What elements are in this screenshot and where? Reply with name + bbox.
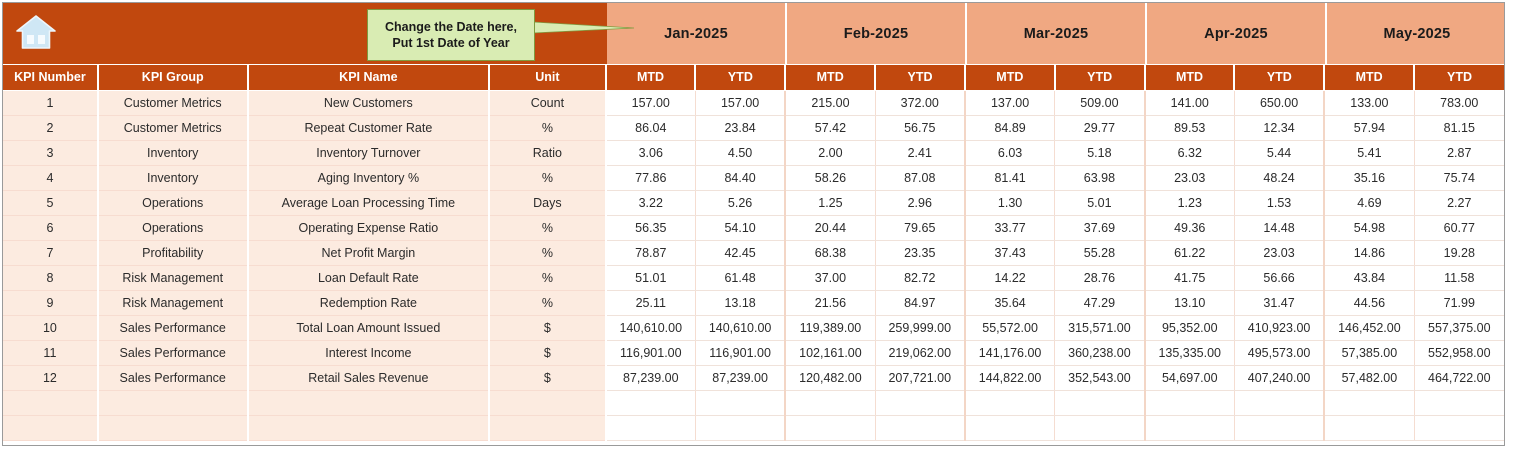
cell-apr-2025-mtd[interactable]: 6.32 (1145, 140, 1235, 165)
cell-may-2025-ytd[interactable]: 60.77 (1414, 215, 1504, 240)
cell-apr-2025-ytd[interactable] (1234, 390, 1324, 415)
cell-mar-2025-ytd[interactable]: 28.76 (1055, 265, 1145, 290)
kpi-table-body: 1Customer MetricsNew CustomersCount157.0… (3, 90, 1504, 440)
cell-kpi-name[interactable]: New Customers (248, 90, 490, 115)
cell-feb-2025-mtd[interactable]: 58.26 (785, 165, 875, 190)
cell-kpi-group[interactable]: Inventory (98, 165, 248, 190)
cell-feb-2025-ytd[interactable]: 207,721.00 (875, 365, 965, 390)
cell-may-2025-mtd[interactable]: 14.86 (1324, 240, 1414, 265)
table-header-row: KPI Number KPI Group KPI Name Unit MTD Y… (3, 65, 1504, 90)
cell-mar-2025-ytd[interactable] (1055, 390, 1145, 415)
cell-apr-2025-ytd[interactable]: 5.44 (1234, 140, 1324, 165)
cell-apr-2025-ytd[interactable] (1234, 415, 1324, 440)
cell-kpi-name[interactable]: Operating Expense Ratio (248, 215, 490, 240)
col-header-mar-ytd[interactable]: YTD (1055, 65, 1145, 90)
cell-apr-2025-ytd[interactable]: 31.47 (1234, 290, 1324, 315)
cell-apr-2025-mtd[interactable] (1145, 415, 1235, 440)
cell-feb-2025-mtd[interactable]: 37.00 (785, 265, 875, 290)
cell-mar-2025-mtd[interactable]: 141,176.00 (965, 340, 1055, 365)
cell-apr-2025-ytd[interactable]: 48.24 (1234, 165, 1324, 190)
cell-feb-2025-ytd[interactable]: 372.00 (875, 90, 965, 115)
cell-mar-2025-mtd[interactable] (965, 415, 1055, 440)
cell-may-2025-mtd[interactable] (1324, 415, 1414, 440)
cell-kpi-name[interactable]: Average Loan Processing Time (248, 190, 490, 215)
cell-jan-2025-ytd[interactable]: 87,239.00 (695, 365, 785, 390)
cell-feb-2025-ytd[interactable]: 84.97 (875, 290, 965, 315)
cell-may-2025-mtd[interactable]: 133.00 (1324, 90, 1414, 115)
cell-unit[interactable]: $ (489, 340, 605, 365)
table-row[interactable]: 3InventoryInventory TurnoverRatio3.064.5… (3, 140, 1504, 165)
cell-kpi-name[interactable] (248, 390, 490, 415)
cell-mar-2025-ytd[interactable]: 55.28 (1055, 240, 1145, 265)
cell-may-2025-mtd[interactable]: 54.98 (1324, 215, 1414, 240)
cell-apr-2025-mtd[interactable]: 89.53 (1145, 115, 1235, 140)
cell-feb-2025-mtd[interactable] (785, 415, 875, 440)
cell-kpi-group[interactable]: Risk Management (98, 265, 248, 290)
col-header-feb-ytd[interactable]: YTD (875, 65, 965, 90)
table-row[interactable]: 10Sales PerformanceTotal Loan Amount Iss… (3, 315, 1504, 340)
cell-kpi-number[interactable]: 8 (3, 265, 98, 290)
cell-kpi-number[interactable]: 12 (3, 365, 98, 390)
cell-kpi-group[interactable]: Operations (98, 190, 248, 215)
col-header-jan-ytd[interactable]: YTD (695, 65, 785, 90)
cell-kpi-number[interactable]: 6 (3, 215, 98, 240)
cell-mar-2025-mtd[interactable]: 14.22 (965, 265, 1055, 290)
cell-feb-2025-ytd[interactable]: 87.08 (875, 165, 965, 190)
cell-kpi-group[interactable]: Sales Performance (98, 315, 248, 340)
cell-apr-2025-mtd[interactable]: 135,335.00 (1145, 340, 1235, 365)
cell-jan-2025-mtd[interactable]: 140,610.00 (606, 315, 696, 340)
cell-jan-2025-mtd[interactable]: 51.01 (606, 265, 696, 290)
cell-jan-2025-mtd[interactable]: 78.87 (606, 240, 696, 265)
cell-jan-2025-ytd[interactable]: 84.40 (695, 165, 785, 190)
cell-mar-2025-mtd[interactable] (965, 390, 1055, 415)
col-header-may-mtd[interactable]: MTD (1324, 65, 1414, 90)
cell-kpi-name[interactable]: Inventory Turnover (248, 140, 490, 165)
cell-unit[interactable]: Days (489, 190, 605, 215)
cell-unit[interactable]: $ (489, 315, 605, 340)
cell-mar-2025-ytd[interactable]: 37.69 (1055, 215, 1145, 240)
cell-jan-2025-ytd[interactable]: 157.00 (695, 90, 785, 115)
table-row[interactable]: 8Risk ManagementLoan Default Rate%51.016… (3, 265, 1504, 290)
cell-unit[interactable]: % (489, 265, 605, 290)
col-header-apr-mtd[interactable]: MTD (1145, 65, 1235, 90)
cell-mar-2025-ytd[interactable]: 47.29 (1055, 290, 1145, 315)
cell-may-2025-ytd[interactable]: 71.99 (1414, 290, 1504, 315)
cell-kpi-group[interactable]: Sales Performance (98, 365, 248, 390)
table-row[interactable]: 9Risk ManagementRedemption Rate%25.1113.… (3, 290, 1504, 315)
table-row[interactable]: 5OperationsAverage Loan Processing TimeD… (3, 190, 1504, 215)
cell-feb-2025-mtd[interactable]: 120,482.00 (785, 365, 875, 390)
kpi-sheet: Change the Date here, Put 1st Date of Ye… (2, 2, 1505, 446)
cell-jan-2025-ytd[interactable]: 42.45 (695, 240, 785, 265)
cell-feb-2025-mtd[interactable]: 20.44 (785, 215, 875, 240)
cell-mar-2025-mtd[interactable]: 6.03 (965, 140, 1055, 165)
cell-jan-2025-ytd[interactable] (695, 390, 785, 415)
cell-kpi-name[interactable]: Total Loan Amount Issued (248, 315, 490, 340)
table-row[interactable]: 12Sales PerformanceRetail Sales Revenue$… (3, 365, 1504, 390)
cell-may-2025-ytd[interactable]: 557,375.00 (1414, 315, 1504, 340)
cell-mar-2025-ytd[interactable]: 5.01 (1055, 190, 1145, 215)
col-header-mar-mtd[interactable]: MTD (965, 65, 1055, 90)
table-row[interactable]: 11Sales PerformanceInterest Income$116,9… (3, 340, 1504, 365)
cell-unit[interactable]: % (489, 290, 605, 315)
cell-jan-2025-ytd[interactable]: 5.26 (695, 190, 785, 215)
cell-jan-2025-ytd[interactable]: 116,901.00 (695, 340, 785, 365)
cell-kpi-number[interactable]: 4 (3, 165, 98, 190)
col-header-apr-ytd[interactable]: YTD (1234, 65, 1324, 90)
cell-kpi-name[interactable] (248, 415, 490, 440)
cell-feb-2025-mtd[interactable] (785, 390, 875, 415)
cell-kpi-name[interactable]: Net Profit Margin (248, 240, 490, 265)
cell-apr-2025-ytd[interactable]: 407,240.00 (1234, 365, 1324, 390)
cell-apr-2025-ytd[interactable]: 410,923.00 (1234, 315, 1324, 340)
cell-unit[interactable]: % (489, 165, 605, 190)
cell-apr-2025-ytd[interactable]: 56.66 (1234, 265, 1324, 290)
col-header-feb-mtd[interactable]: MTD (785, 65, 875, 90)
cell-may-2025-ytd[interactable]: 11.58 (1414, 265, 1504, 290)
col-header-kpi-number[interactable]: KPI Number (3, 65, 98, 90)
cell-kpi-number[interactable]: 11 (3, 340, 98, 365)
cell-kpi-name[interactable]: Loan Default Rate (248, 265, 490, 290)
cell-jan-2025-mtd[interactable]: 3.06 (606, 140, 696, 165)
cell-feb-2025-ytd[interactable]: 2.96 (875, 190, 965, 215)
cell-apr-2025-mtd[interactable]: 13.10 (1145, 290, 1235, 315)
cell-apr-2025-mtd[interactable]: 54,697.00 (1145, 365, 1235, 390)
cell-kpi-group[interactable]: Profitability (98, 240, 248, 265)
cell-may-2025-ytd[interactable]: 464,722.00 (1414, 365, 1504, 390)
cell-feb-2025-mtd[interactable]: 2.00 (785, 140, 875, 165)
cell-mar-2025-mtd[interactable]: 81.41 (965, 165, 1055, 190)
cell-feb-2025-ytd[interactable]: 82.72 (875, 265, 965, 290)
cell-may-2025-ytd[interactable]: 81.15 (1414, 115, 1504, 140)
cell-jan-2025-mtd[interactable]: 87,239.00 (606, 365, 696, 390)
callout-line-2: Put 1st Date of Year (392, 35, 509, 51)
cell-feb-2025-ytd[interactable]: 2.41 (875, 140, 965, 165)
cell-jan-2025-mtd[interactable]: 56.35 (606, 215, 696, 240)
cell-jan-2025-mtd[interactable]: 25.11 (606, 290, 696, 315)
cell-apr-2025-mtd[interactable]: 95,352.00 (1145, 315, 1235, 340)
cell-apr-2025-mtd[interactable]: 49.36 (1145, 215, 1235, 240)
cell-kpi-number[interactable]: 3 (3, 140, 98, 165)
cell-apr-2025-mtd[interactable]: 23.03 (1145, 165, 1235, 190)
cell-mar-2025-ytd[interactable]: 315,571.00 (1055, 315, 1145, 340)
cell-jan-2025-ytd[interactable]: 23.84 (695, 115, 785, 140)
cell-unit[interactable]: Count (489, 90, 605, 115)
cell-kpi-group[interactable]: Customer Metrics (98, 90, 248, 115)
cell-kpi-group[interactable]: Operations (98, 215, 248, 240)
col-header-unit[interactable]: Unit (489, 65, 605, 90)
cell-feb-2025-ytd[interactable]: 56.75 (875, 115, 965, 140)
cell-kpi-number[interactable] (3, 415, 98, 440)
cell-may-2025-mtd[interactable]: 146,452.00 (1324, 315, 1414, 340)
cell-kpi-name[interactable]: Redemption Rate (248, 290, 490, 315)
cell-jan-2025-mtd[interactable] (606, 415, 696, 440)
cell-jan-2025-ytd[interactable]: 61.48 (695, 265, 785, 290)
cell-feb-2025-ytd[interactable] (875, 415, 965, 440)
cell-may-2025-mtd[interactable]: 57.94 (1324, 115, 1414, 140)
cell-jan-2025-ytd[interactable]: 4.50 (695, 140, 785, 165)
cell-apr-2025-ytd[interactable]: 495,573.00 (1234, 340, 1324, 365)
cell-feb-2025-mtd[interactable]: 57.42 (785, 115, 875, 140)
month-header-feb[interactable]: Feb-2025 (787, 3, 967, 64)
cell-mar-2025-ytd[interactable]: 5.18 (1055, 140, 1145, 165)
cell-apr-2025-ytd[interactable]: 650.00 (1234, 90, 1324, 115)
cell-unit[interactable] (489, 390, 605, 415)
spreadsheet-screen: Change the Date here, Put 1st Date of Ye… (0, 0, 1524, 453)
cell-may-2025-mtd[interactable] (1324, 390, 1414, 415)
cell-may-2025-ytd[interactable]: 75.74 (1414, 165, 1504, 190)
month-header-may[interactable]: May-2025 (1327, 3, 1505, 64)
table-row[interactable]: 1Customer MetricsNew CustomersCount157.0… (3, 90, 1504, 115)
cell-kpi-number[interactable]: 10 (3, 315, 98, 340)
cell-mar-2025-mtd[interactable]: 84.89 (965, 115, 1055, 140)
month-header-apr[interactable]: Apr-2025 (1147, 3, 1327, 64)
cell-feb-2025-mtd[interactable]: 21.56 (785, 290, 875, 315)
cell-apr-2025-ytd[interactable]: 23.03 (1234, 240, 1324, 265)
cell-kpi-number[interactable]: 1 (3, 90, 98, 115)
cell-feb-2025-mtd[interactable]: 119,389.00 (785, 315, 875, 340)
cell-jan-2025-mtd[interactable]: 157.00 (606, 90, 696, 115)
cell-kpi-number[interactable]: 5 (3, 190, 98, 215)
cell-jan-2025-mtd[interactable]: 3.22 (606, 190, 696, 215)
cell-mar-2025-ytd[interactable]: 360,238.00 (1055, 340, 1145, 365)
table-row[interactable] (3, 390, 1504, 415)
cell-feb-2025-ytd[interactable]: 219,062.00 (875, 340, 965, 365)
month-header-mar[interactable]: Mar-2025 (967, 3, 1147, 64)
cell-mar-2025-mtd[interactable]: 55,572.00 (965, 315, 1055, 340)
col-header-kpi-group[interactable]: KPI Group (98, 65, 248, 90)
cell-may-2025-mtd[interactable]: 5.41 (1324, 140, 1414, 165)
cell-jan-2025-mtd[interactable]: 116,901.00 (606, 340, 696, 365)
cell-mar-2025-ytd[interactable]: 29.77 (1055, 115, 1145, 140)
cell-kpi-number[interactable]: 7 (3, 240, 98, 265)
kpi-table: KPI Number KPI Group KPI Name Unit MTD Y… (3, 65, 1504, 441)
cell-unit[interactable]: % (489, 240, 605, 265)
cell-apr-2025-mtd[interactable]: 61.22 (1145, 240, 1235, 265)
month-header-band: Jan-2025 Feb-2025 Mar-2025 Apr-2025 May-… (607, 3, 1505, 64)
cell-kpi-group[interactable] (98, 390, 248, 415)
cell-kpi-number[interactable] (3, 390, 98, 415)
cell-may-2025-ytd[interactable] (1414, 415, 1504, 440)
cell-may-2025-ytd[interactable]: 2.87 (1414, 140, 1504, 165)
table-row[interactable]: 2Customer MetricsRepeat Customer Rate%86… (3, 115, 1504, 140)
cell-may-2025-ytd[interactable]: 2.27 (1414, 190, 1504, 215)
table-row[interactable]: 6OperationsOperating Expense Ratio%56.35… (3, 215, 1504, 240)
cell-mar-2025-mtd[interactable]: 37.43 (965, 240, 1055, 265)
cell-apr-2025-ytd[interactable]: 1.53 (1234, 190, 1324, 215)
cell-may-2025-ytd[interactable]: 552,958.00 (1414, 340, 1504, 365)
cell-kpi-name[interactable]: Repeat Customer Rate (248, 115, 490, 140)
col-header-kpi-name[interactable]: KPI Name (248, 65, 490, 90)
callout-pointer-icon (533, 21, 635, 35)
cell-may-2025-mtd[interactable]: 35.16 (1324, 165, 1414, 190)
cell-mar-2025-mtd[interactable]: 1.30 (965, 190, 1055, 215)
cell-kpi-number[interactable]: 2 (3, 115, 98, 140)
cell-may-2025-mtd[interactable]: 57,482.00 (1324, 365, 1414, 390)
cell-may-2025-ytd[interactable]: 19.28 (1414, 240, 1504, 265)
cell-feb-2025-ytd[interactable]: 23.35 (875, 240, 965, 265)
cell-feb-2025-ytd[interactable]: 259,999.00 (875, 315, 965, 340)
cell-unit[interactable] (489, 415, 605, 440)
cell-apr-2025-mtd[interactable]: 141.00 (1145, 90, 1235, 115)
cell-may-2025-ytd[interactable] (1414, 390, 1504, 415)
cell-kpi-name[interactable]: Aging Inventory % (248, 165, 490, 190)
home-icon[interactable] (15, 13, 57, 51)
cell-feb-2025-ytd[interactable] (875, 390, 965, 415)
cell-unit[interactable]: $ (489, 365, 605, 390)
table-row[interactable] (3, 415, 1504, 440)
cell-apr-2025-mtd[interactable]: 41.75 (1145, 265, 1235, 290)
cell-mar-2025-ytd[interactable]: 63.98 (1055, 165, 1145, 190)
cell-unit[interactable]: % (489, 215, 605, 240)
cell-jan-2025-ytd[interactable]: 13.18 (695, 290, 785, 315)
cell-mar-2025-ytd[interactable]: 509.00 (1055, 90, 1145, 115)
cell-kpi-group[interactable]: Sales Performance (98, 340, 248, 365)
cell-jan-2025-ytd[interactable]: 54.10 (695, 215, 785, 240)
cell-may-2025-ytd[interactable]: 783.00 (1414, 90, 1504, 115)
cell-mar-2025-mtd[interactable]: 144,822.00 (965, 365, 1055, 390)
cell-mar-2025-mtd[interactable]: 137.00 (965, 90, 1055, 115)
cell-kpi-group[interactable]: Risk Management (98, 290, 248, 315)
cell-kpi-group[interactable] (98, 415, 248, 440)
cell-kpi-name[interactable]: Interest Income (248, 340, 490, 365)
cell-feb-2025-mtd[interactable]: 1.25 (785, 190, 875, 215)
cell-feb-2025-ytd[interactable]: 79.65 (875, 215, 965, 240)
table-row[interactable]: 7ProfitabilityNet Profit Margin%78.8742.… (3, 240, 1504, 265)
cell-mar-2025-ytd[interactable] (1055, 415, 1145, 440)
cell-apr-2025-ytd[interactable]: 14.48 (1234, 215, 1324, 240)
col-header-may-ytd[interactable]: YTD (1414, 65, 1504, 90)
cell-jan-2025-mtd[interactable] (606, 390, 696, 415)
cell-feb-2025-mtd[interactable]: 102,161.00 (785, 340, 875, 365)
cell-may-2025-mtd[interactable]: 4.69 (1324, 190, 1414, 215)
cell-kpi-group[interactable]: Inventory (98, 140, 248, 165)
cell-feb-2025-mtd[interactable]: 68.38 (785, 240, 875, 265)
date-instruction-callout: Change the Date here, Put 1st Date of Ye… (367, 9, 535, 61)
cell-mar-2025-ytd[interactable]: 352,543.00 (1055, 365, 1145, 390)
cell-feb-2025-mtd[interactable]: 215.00 (785, 90, 875, 115)
cell-mar-2025-mtd[interactable]: 35.64 (965, 290, 1055, 315)
cell-jan-2025-ytd[interactable]: 140,610.00 (695, 315, 785, 340)
table-row[interactable]: 4InventoryAging Inventory %%77.8684.4058… (3, 165, 1504, 190)
cell-mar-2025-mtd[interactable]: 33.77 (965, 215, 1055, 240)
cell-may-2025-mtd[interactable]: 44.56 (1324, 290, 1414, 315)
cell-unit[interactable]: Ratio (489, 140, 605, 165)
cell-jan-2025-mtd[interactable]: 77.86 (606, 165, 696, 190)
cell-may-2025-mtd[interactable]: 57,385.00 (1324, 340, 1414, 365)
col-header-jan-mtd[interactable]: MTD (606, 65, 696, 90)
cell-kpi-number[interactable]: 9 (3, 290, 98, 315)
callout-line-1: Change the Date here, (385, 19, 517, 35)
cell-jan-2025-ytd[interactable] (695, 415, 785, 440)
cell-apr-2025-mtd[interactable] (1145, 390, 1235, 415)
cell-kpi-name[interactable]: Retail Sales Revenue (248, 365, 490, 390)
cell-unit[interactable]: % (489, 115, 605, 140)
cell-apr-2025-ytd[interactable]: 12.34 (1234, 115, 1324, 140)
cell-may-2025-mtd[interactable]: 43.84 (1324, 265, 1414, 290)
cell-apr-2025-mtd[interactable]: 1.23 (1145, 190, 1235, 215)
cell-jan-2025-mtd[interactable]: 86.04 (606, 115, 696, 140)
cell-kpi-group[interactable]: Customer Metrics (98, 115, 248, 140)
